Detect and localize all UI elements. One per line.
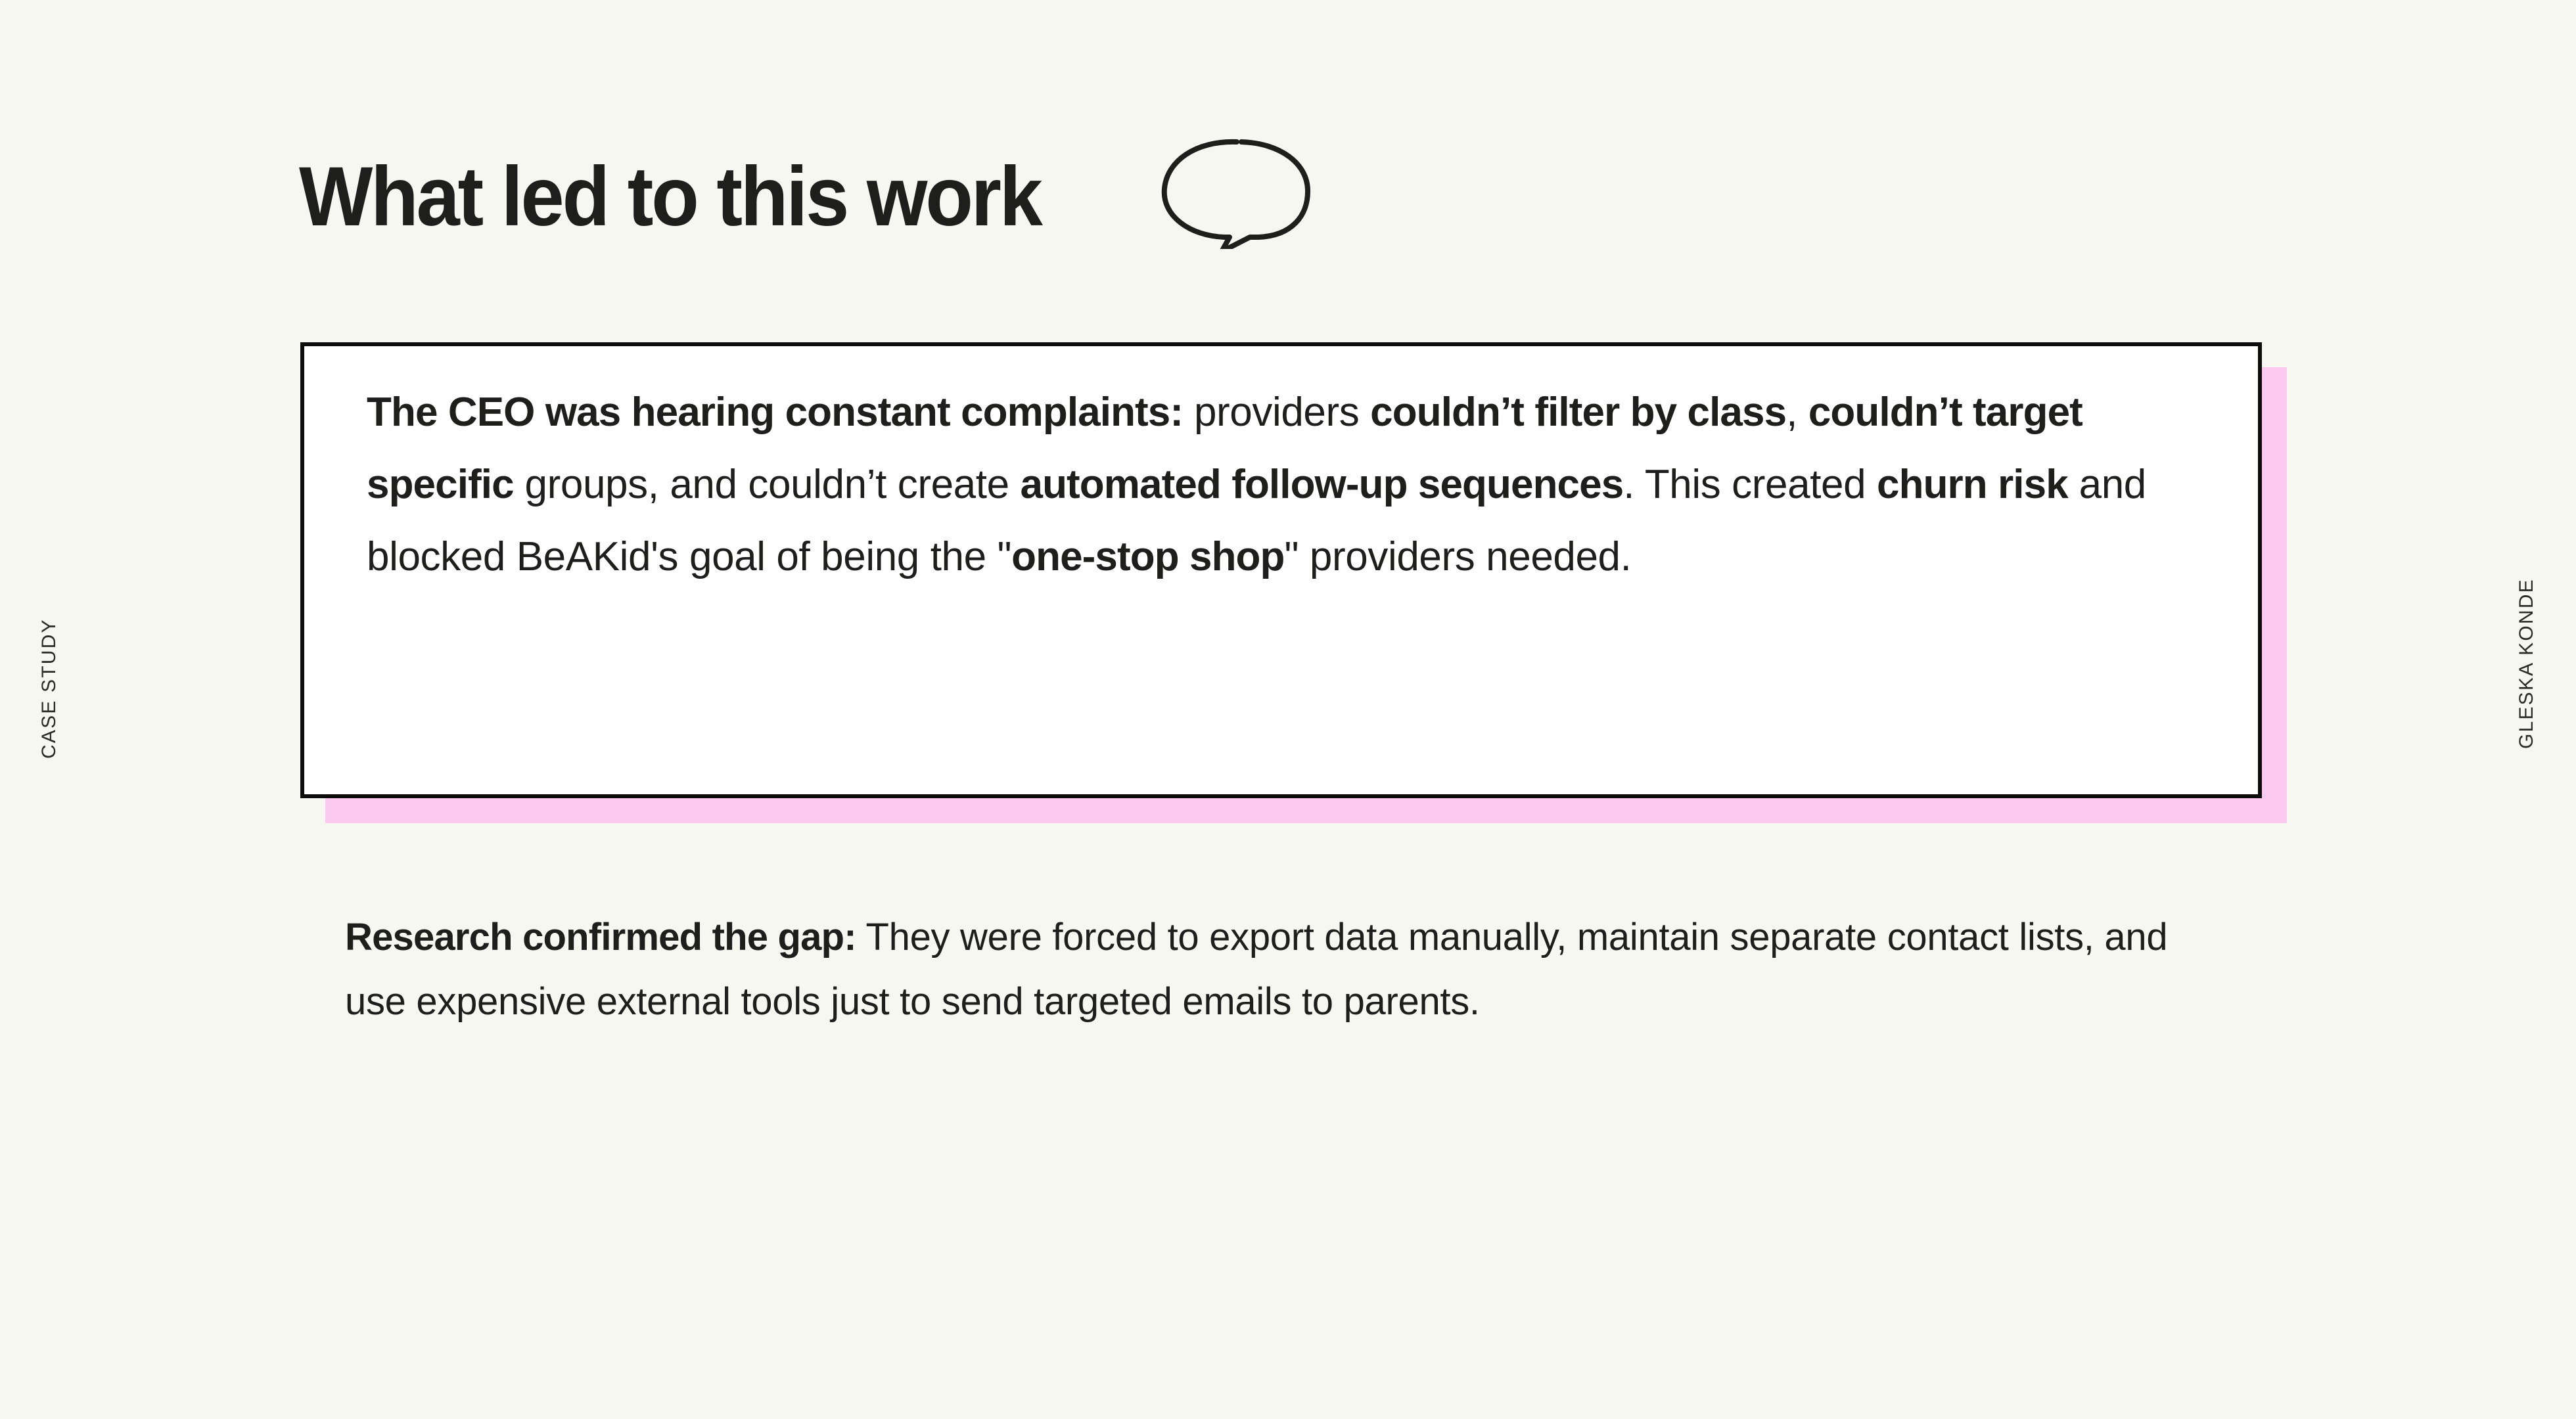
rail-label-brand: GLESKA KONDE (2516, 650, 2538, 749)
headline-row: What led to this work (299, 141, 1314, 252)
quote-card-wrapper: The CEO was hearing constant complaints:… (300, 342, 2262, 798)
speech-bubble-icon (1156, 137, 1314, 252)
quote-card: The CEO was hearing constant complaints:… (300, 342, 2262, 798)
rail-label-case-study: CASE STUDY (38, 660, 60, 759)
research-paragraph: Research confirmed the gap: They were fo… (345, 905, 2205, 1034)
page-title: What led to this work (299, 155, 1041, 239)
quote-card-text: The CEO was hearing constant complaints:… (367, 376, 2219, 593)
slide-canvas: CASE STUDY GLESKA KONDE What led to this… (0, 0, 2576, 1419)
